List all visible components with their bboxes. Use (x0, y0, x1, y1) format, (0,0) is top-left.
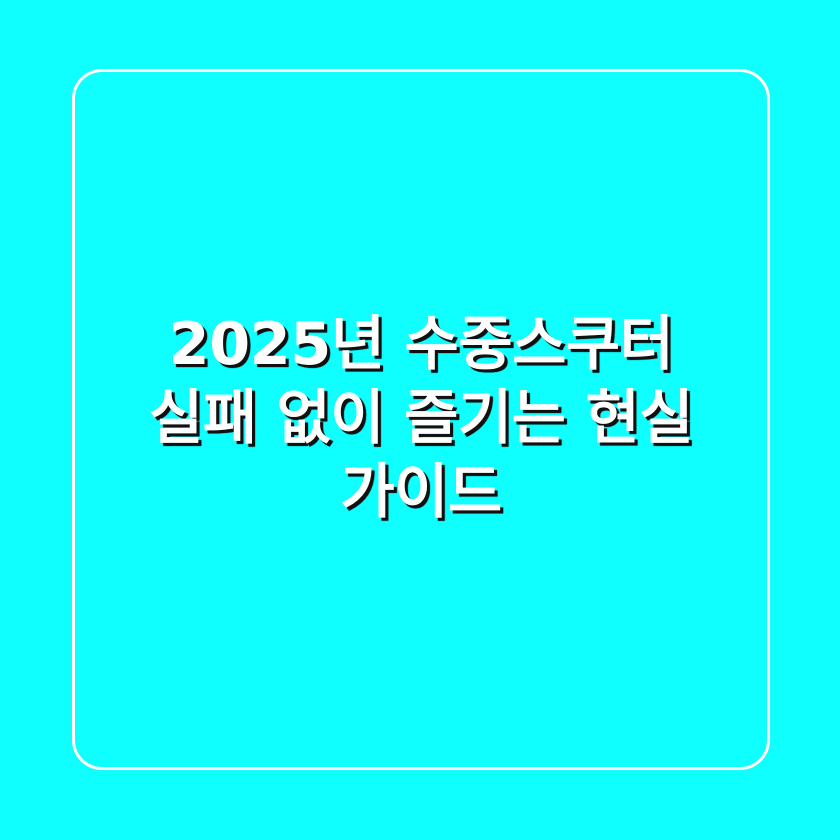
headline-block: 2025년 수중스쿠터 실패 없이 즐기는 현실 가이드 (75, 307, 767, 529)
headline-line-1: 2025년 수중스쿠터 (83, 307, 759, 381)
thumbnail-canvas: 2025년 수중스쿠터 실패 없이 즐기는 현실 가이드 (0, 0, 840, 840)
headline-line-2: 실패 없이 즐기는 현실 (83, 381, 759, 455)
headline-line-3: 가이드 (83, 455, 759, 529)
card-frame: 2025년 수중스쿠터 실패 없이 즐기는 현실 가이드 (72, 69, 770, 770)
